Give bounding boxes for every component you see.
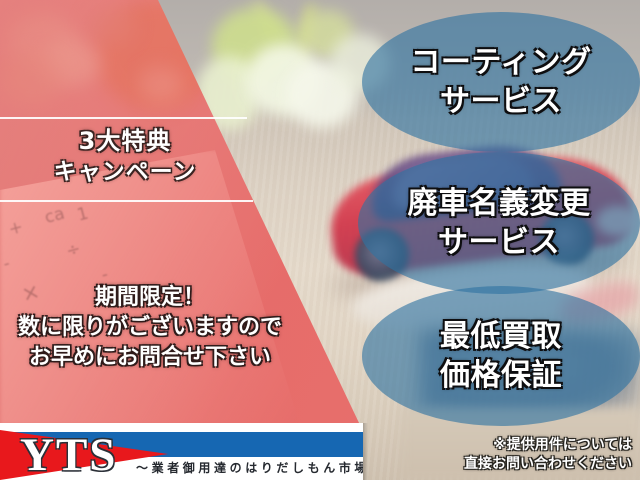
calculator-key: 1: [75, 204, 91, 226]
logo-band-edge-shadow: [363, 423, 368, 480]
logo-brand-text: YTS: [20, 432, 117, 479]
badge-2-line-2: サービス: [438, 223, 560, 262]
limited-time-notice: 期間限定！ 数に限りがございますので お早めにお問合せ下さい: [0, 283, 300, 373]
disclaimer: ※提供用件については 直接お問い合わせください: [464, 436, 632, 474]
disclaimer-line-1: ※提供用件については: [464, 436, 632, 455]
campaign-headline: 3大特典 キャンペーン: [0, 126, 250, 188]
logo-tagline: ～業者御用達のはりだしもん市場: [136, 459, 363, 476]
badge-3-line-1: 最低買取: [440, 317, 562, 356]
calculator-key: +: [6, 217, 25, 240]
headline-rule-bottom: [0, 200, 253, 202]
logo-band: YTS ～業者御用達のはりだしもん市場: [0, 423, 363, 480]
badge-3-line-2: 価格保証: [440, 356, 562, 395]
badge-1-line-1: コーティング: [410, 43, 591, 82]
badge-lowest-purchase-price-guarantee: 最低買取 価格保証: [362, 286, 640, 426]
badge-coating-service: コーティング サービス: [362, 12, 640, 152]
notice-line-2: 数に限りがございますので: [0, 313, 300, 343]
campaign-headline-line-2: キャンペーン: [0, 157, 250, 188]
calculator-key: ca: [43, 204, 67, 228]
campaign-headline-line-1: 3大特典: [0, 126, 250, 157]
calculator-key: ÷: [64, 239, 83, 262]
promo-banner: + ca 1 - ÷ × - 3大特典 キャンペーン 期間限定！ 数に限りがござ…: [0, 0, 640, 480]
notice-line-1: 期間限定！: [0, 283, 300, 313]
badge-scrap-car-transfer-service: 廃車名義変更 サービス: [358, 152, 640, 294]
headline-rule-top: [0, 117, 247, 119]
disclaimer-line-2: 直接お問い合わせください: [464, 455, 632, 474]
badge-2-line-1: 廃車名義変更: [408, 184, 591, 223]
badge-1-line-2: サービス: [440, 82, 562, 121]
notice-line-3: お早めにお問合せ下さい: [0, 343, 300, 373]
